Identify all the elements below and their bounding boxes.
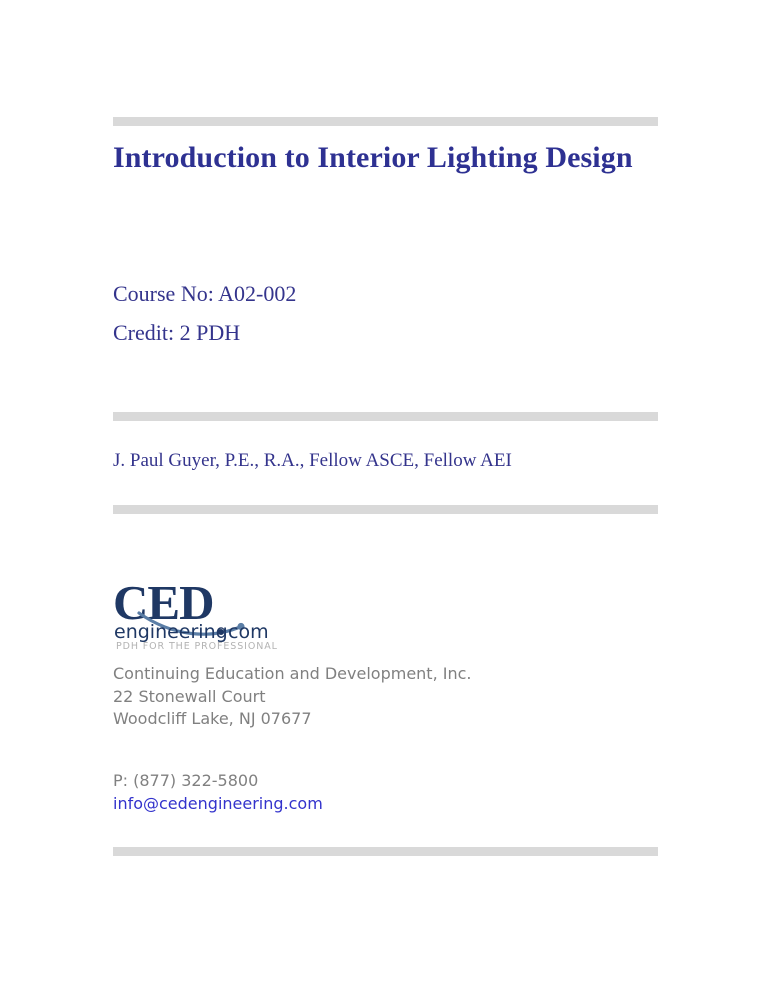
logo-wordmark-com: com [228, 621, 269, 643]
logo-tagline: PDH FOR THE PROFESSIONAL [116, 641, 278, 651]
contact-info: P: (877) 322-5800 info@cedengineering.co… [113, 770, 573, 815]
divider-rule-below-author [113, 505, 658, 514]
page-title: Introduction to Interior Lighting Design [113, 137, 633, 178]
company-address-line-2: Woodcliff Lake, NJ 07677 [113, 708, 573, 731]
company-address: Continuing Education and Development, In… [113, 663, 573, 731]
divider-rule-bottom [113, 847, 658, 856]
contact-email-link[interactable]: info@cedengineering.com [113, 793, 323, 816]
course-credit: Credit: 2 PDH [113, 313, 593, 352]
course-number: Course No: A02-002 [113, 274, 593, 313]
logo-artwork: CED engineering com PDH FOR THE PROFESSI… [113, 583, 363, 651]
course-meta: Course No: A02-002 Credit: 2 PDH [113, 274, 593, 352]
divider-rule-top [113, 117, 658, 126]
cover-page: Introduction to Interior Lighting Design… [0, 0, 768, 994]
divider-rule-above-author [113, 412, 658, 421]
contact-phone: P: (877) 322-5800 [113, 770, 573, 793]
logo-wordmark-dot-icon [218, 629, 224, 635]
ced-engineering-logo: CED engineering com PDH FOR THE PROFESSI… [113, 583, 363, 651]
company-address-line-1: 22 Stonewall Court [113, 686, 573, 709]
logo-wordmark-engineering: engineering [114, 621, 228, 643]
company-name: Continuing Education and Development, In… [113, 663, 573, 686]
author-name: J. Paul Guyer, P.E., R.A., Fellow ASCE, … [113, 447, 658, 475]
